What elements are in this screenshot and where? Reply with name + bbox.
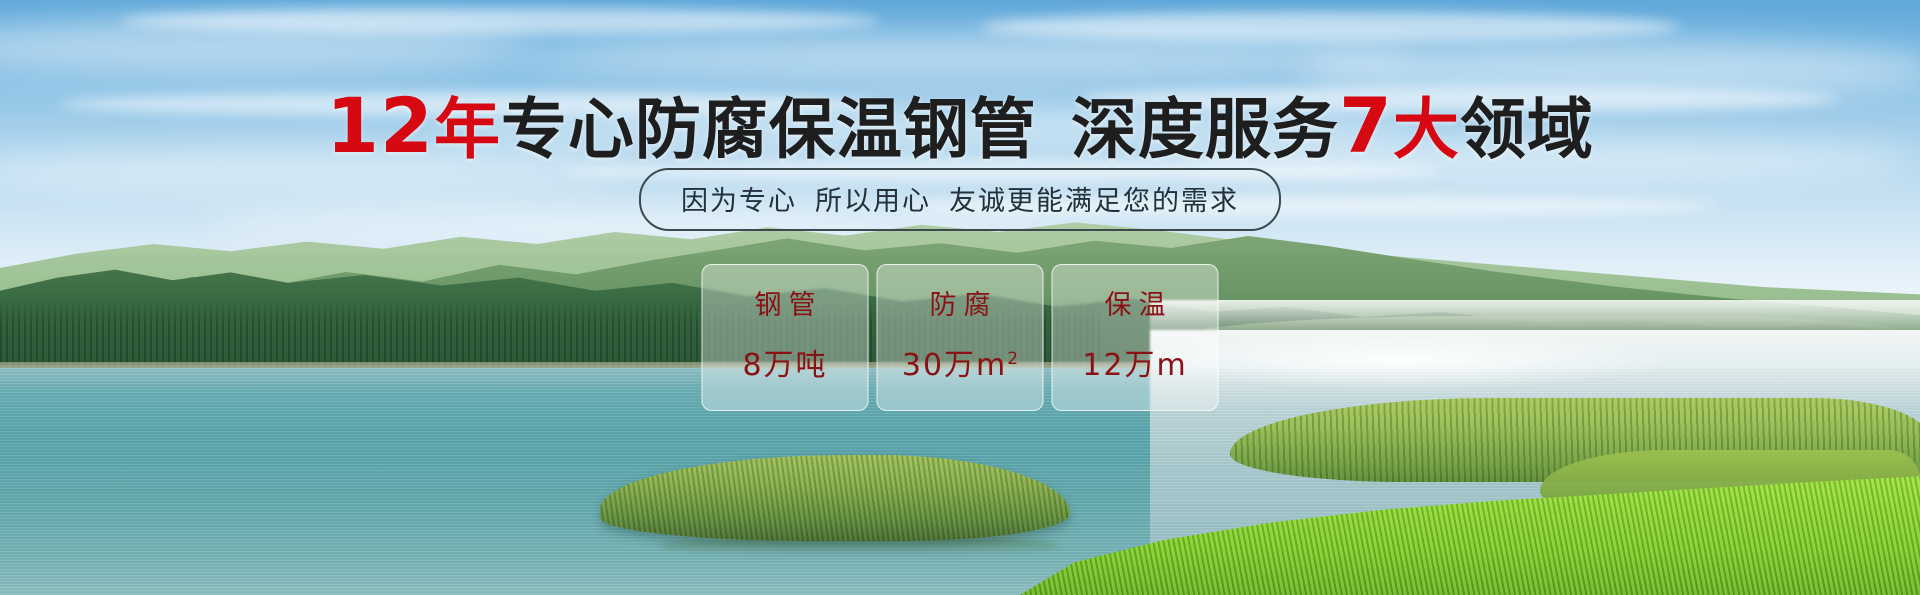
headline-fields-number: 7 bbox=[1339, 81, 1393, 170]
banner-headline: 12年专心防腐保温钢管深度服务7大领域 bbox=[0, 76, 1920, 172]
headline-segment-main: 专心防腐保温钢管 bbox=[501, 91, 1037, 168]
stat-card-value: 12万m bbox=[1053, 340, 1218, 384]
headline-segment-service: 深度服务 bbox=[1071, 91, 1339, 168]
stat-card-anticorrosion[interactable]: 防腐 30万m2 bbox=[877, 264, 1044, 411]
headline-years-number: 12 bbox=[326, 81, 434, 170]
subtitle-part-1: 因为专心 bbox=[681, 186, 797, 217]
subtitle-part-2: 所以用心 bbox=[815, 186, 931, 217]
promotional-banner: 12年专心防腐保温钢管深度服务7大领域 因为专心所以用心友诚更能满足您的需求 钢… bbox=[0, 0, 1920, 595]
stat-card-title: 钢管 bbox=[703, 283, 868, 322]
stat-card-value-text: 12万m bbox=[1082, 348, 1187, 383]
stat-card-value-text: 30万m bbox=[902, 348, 1007, 383]
stat-card-value: 8万吨 bbox=[703, 340, 868, 384]
stat-card-title: 防腐 bbox=[878, 283, 1043, 322]
headline-years-unit: 年 bbox=[434, 91, 501, 168]
headline-segment-fields: 领域 bbox=[1460, 91, 1594, 168]
cloud bbox=[120, 8, 880, 34]
subtitle-part-3: 友诚更能满足您的需求 bbox=[949, 186, 1239, 217]
stat-card-value: 30万m2 bbox=[878, 340, 1043, 384]
stat-card-group: 钢管 8万吨 防腐 30万m2 保温 12万m bbox=[702, 264, 1219, 411]
stat-card-value-text: 8万吨 bbox=[742, 348, 827, 383]
headline-fields-unit: 大 bbox=[1393, 91, 1460, 168]
subtitle-pill: 因为专心所以用心友诚更能满足您的需求 bbox=[639, 168, 1281, 231]
stat-card-title: 保温 bbox=[1053, 283, 1218, 322]
stat-card-steel-pipe[interactable]: 钢管 8万吨 bbox=[702, 264, 869, 411]
stat-card-value-superscript: 2 bbox=[1007, 349, 1018, 369]
stat-card-insulation[interactable]: 保温 12万m bbox=[1052, 264, 1219, 411]
cloud bbox=[980, 12, 1680, 42]
